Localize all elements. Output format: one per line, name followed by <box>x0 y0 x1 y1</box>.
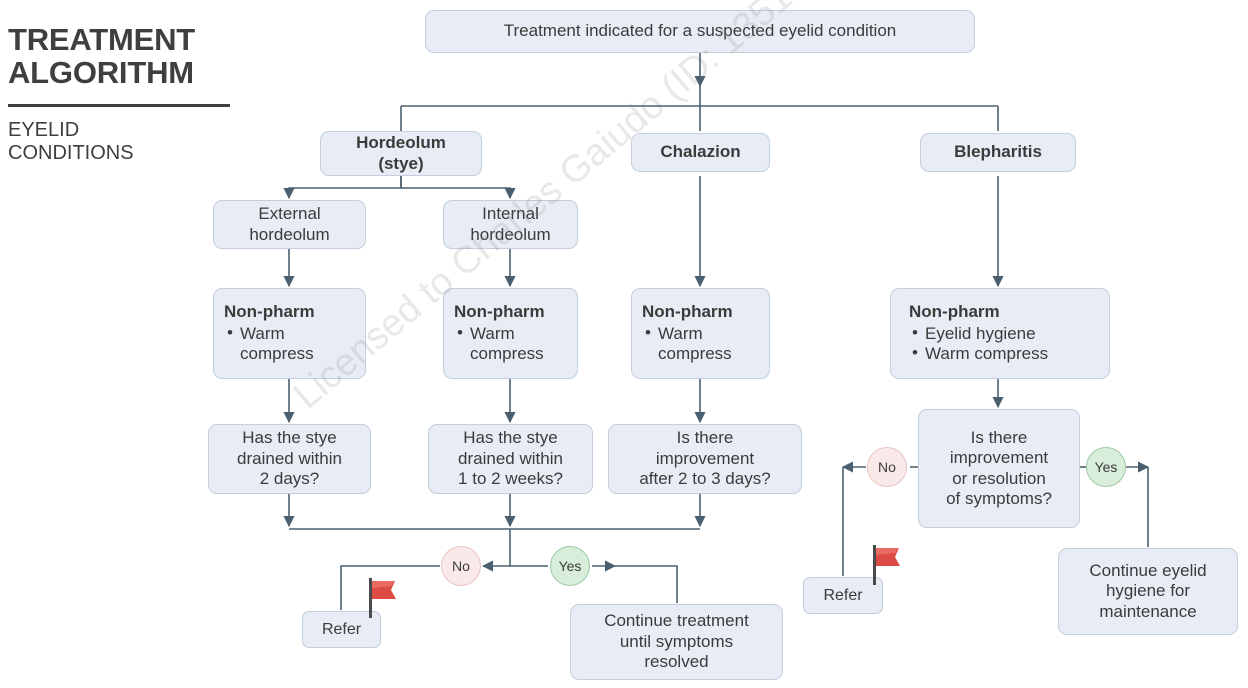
node-question-blepharitis[interactable]: Is there improvement or resolution of sy… <box>918 409 1080 528</box>
node-question-external-line-1: Has the stye <box>242 428 337 448</box>
red-flag-icon <box>362 576 400 620</box>
node-external-hordeolum-line-1: External <box>258 204 320 224</box>
decision-yes-label: Yes <box>559 558 582 574</box>
header-block: TREATMENT ALGORITHM EYELID CONDITIONS <box>8 24 248 166</box>
node-chalazion-label: Chalazion <box>660 142 740 162</box>
node-question-internal-line-1: Has the stye <box>463 428 558 448</box>
list-item: Warm compress <box>911 344 1048 364</box>
node-hordeolum[interactable]: Hordeolum (stye) <box>320 131 482 176</box>
node-internal-hordeolum-line-1: Internal <box>482 204 539 224</box>
node-nonpharm-internal-heading: Non-pharm <box>454 302 545 322</box>
node-nonpharm-blepharitis[interactable]: Non-pharm Eyelid hygiene Warm compress <box>890 288 1110 379</box>
decision-no-label: No <box>878 459 896 475</box>
node-nonpharm-external-list: Warm compress <box>224 324 348 365</box>
node-continue-hygiene-line-3: maintenance <box>1099 602 1196 622</box>
node-question-blepharitis-line-2: improvement <box>950 448 1048 468</box>
page-title-line-2: ALGORITHM <box>8 57 248 90</box>
node-blepharitis-label: Blepharitis <box>954 142 1042 162</box>
node-nonpharm-internal-list: Warm compress <box>454 324 578 365</box>
decision-yes-label: Yes <box>1095 459 1118 475</box>
node-question-external-line-3: 2 days? <box>260 469 320 489</box>
page-subtitle-line-2: CONDITIONS <box>8 142 248 166</box>
list-item: Warm compress <box>644 324 766 365</box>
page-title-line-1: TREATMENT <box>8 24 248 57</box>
node-question-chalazion-line-2: improvement <box>656 449 754 469</box>
node-continue-treatment-line-2: until symptoms <box>620 632 733 652</box>
node-nonpharm-chalazion-list: Warm compress <box>642 324 766 365</box>
node-nonpharm-external-heading: Non-pharm <box>224 302 315 322</box>
decision-no-label: No <box>452 558 470 574</box>
title-divider <box>8 104 230 107</box>
node-question-blepharitis-line-4: of symptoms? <box>946 489 1052 509</box>
node-question-internal-line-2: drained within <box>458 449 563 469</box>
list-item: Eyelid hygiene <box>911 324 1048 344</box>
page-subtitle: EYELID CONDITIONS <box>8 119 248 166</box>
node-continue-treatment-line-3: resolved <box>644 652 708 672</box>
node-question-internal[interactable]: Has the stye drained within 1 to 2 weeks… <box>428 424 593 494</box>
list-item: Warm compress <box>456 324 578 365</box>
node-question-external[interactable]: Has the stye drained within 2 days? <box>208 424 371 494</box>
node-refer-left-label: Refer <box>322 620 361 639</box>
node-hordeolum-line-1: Hordeolum <box>356 133 446 153</box>
node-nonpharm-external[interactable]: Non-pharm Warm compress <box>213 288 366 379</box>
treatment-algorithm-diagram: TREATMENT ALGORITHM EYELID CONDITIONS <box>0 0 1248 688</box>
node-nonpharm-blepharitis-heading: Non-pharm <box>909 302 1000 322</box>
node-continue-hygiene-line-2: hygiene for <box>1106 581 1190 601</box>
node-question-chalazion[interactable]: Is there improvement after 2 to 3 days? <box>608 424 802 494</box>
node-refer-right-label: Refer <box>823 586 862 605</box>
node-root-label: Treatment indicated for a suspected eyel… <box>504 21 897 41</box>
red-flag-icon <box>866 543 904 587</box>
node-continue-hygiene[interactable]: Continue eyelid hygiene for maintenance <box>1058 548 1238 635</box>
node-nonpharm-chalazion-heading: Non-pharm <box>642 302 733 322</box>
decision-no-hordeolum-chalazion[interactable]: No <box>441 546 481 586</box>
node-hordeolum-line-2: (stye) <box>378 154 423 174</box>
node-question-internal-line-3: 1 to 2 weeks? <box>458 469 563 489</box>
node-nonpharm-chalazion[interactable]: Non-pharm Warm compress <box>631 288 770 379</box>
page-title: TREATMENT ALGORITHM <box>8 24 248 90</box>
list-item: Warm compress <box>226 324 348 365</box>
node-external-hordeolum-line-2: hordeolum <box>249 225 329 245</box>
node-question-chalazion-line-3: after 2 to 3 days? <box>639 469 770 489</box>
node-external-hordeolum[interactable]: External hordeolum <box>213 200 366 249</box>
node-blepharitis[interactable]: Blepharitis <box>920 133 1076 172</box>
node-root-treatment-indicated[interactable]: Treatment indicated for a suspected eyel… <box>425 10 975 53</box>
decision-no-blepharitis[interactable]: No <box>867 447 907 487</box>
decision-yes-blepharitis[interactable]: Yes <box>1086 447 1126 487</box>
node-question-external-line-2: drained within <box>237 449 342 469</box>
node-chalazion[interactable]: Chalazion <box>631 133 770 172</box>
node-question-chalazion-line-1: Is there <box>677 428 734 448</box>
node-continue-treatment-line-1: Continue treatment <box>604 611 749 631</box>
node-internal-hordeolum[interactable]: Internal hordeolum <box>443 200 578 249</box>
node-nonpharm-internal[interactable]: Non-pharm Warm compress <box>443 288 578 379</box>
node-continue-hygiene-line-1: Continue eyelid <box>1089 561 1206 581</box>
node-question-blepharitis-line-3: or resolution <box>952 469 1046 489</box>
page-subtitle-line-1: EYELID <box>8 119 248 143</box>
node-nonpharm-blepharitis-list: Eyelid hygiene Warm compress <box>909 324 1048 365</box>
node-internal-hordeolum-line-2: hordeolum <box>470 225 550 245</box>
node-question-blepharitis-line-1: Is there <box>971 428 1028 448</box>
node-continue-treatment[interactable]: Continue treatment until symptoms resolv… <box>570 604 783 680</box>
decision-yes-hordeolum-chalazion[interactable]: Yes <box>550 546 590 586</box>
